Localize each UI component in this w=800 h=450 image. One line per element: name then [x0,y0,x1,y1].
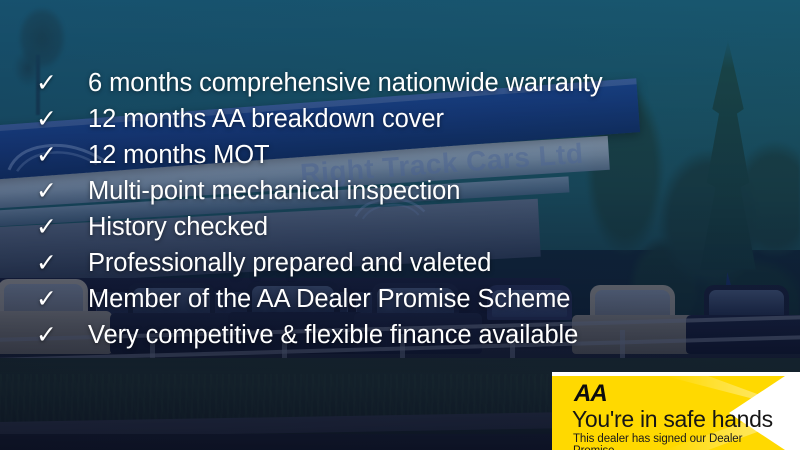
aa-logo: AA [574,380,607,408]
aa-badge-subtext: This dealer has signed our Dealer Promis… [573,433,785,450]
list-item: ✓ 6 months comprehensive nationwide warr… [36,70,736,106]
list-item: ✓ Multi-point mechanical inspection [36,178,736,214]
benefits-list: ✓ 6 months comprehensive nationwide warr… [36,70,736,358]
list-item-label: History checked [88,215,268,241]
list-item-label: 12 months MOT [88,143,270,169]
list-item: ✓ 12 months AA breakdown cover [36,106,736,142]
check-icon: ✓ [36,250,88,275]
list-item-label: 12 months AA breakdown cover [88,107,444,133]
check-icon: ✓ [36,286,88,311]
dealer-promise-slide: Right Track Cars Ltd [0,0,800,450]
aa-dealer-promise-badge: AA You're in safe hands This dealer has … [552,372,800,450]
list-item: ✓ Professionally prepared and valeted [36,250,736,286]
check-icon: ✓ [36,214,88,239]
list-item: ✓ Very competitive & flexible finance av… [36,322,736,358]
check-icon: ✓ [36,106,88,131]
check-icon: ✓ [36,142,88,167]
check-icon: ✓ [36,322,88,347]
check-icon: ✓ [36,70,88,95]
list-item-label: Multi-point mechanical inspection [88,179,460,205]
list-item: ✓ 12 months MOT [36,142,736,178]
list-item: ✓ History checked [36,214,736,250]
list-item: ✓ Member of the AA Dealer Promise Scheme [36,286,736,322]
list-item-label: Member of the AA Dealer Promise Scheme [88,287,570,313]
list-item-label: 6 months comprehensive nationwide warran… [88,71,603,97]
aa-badge-tagline: You're in safe hands [572,406,773,433]
check-icon: ✓ [36,178,88,203]
aa-badge-yellow-panel: AA You're in safe hands This dealer has … [552,376,785,450]
list-item-label: Very competitive & flexible finance avai… [88,323,578,349]
list-item-label: Professionally prepared and valeted [88,251,491,277]
